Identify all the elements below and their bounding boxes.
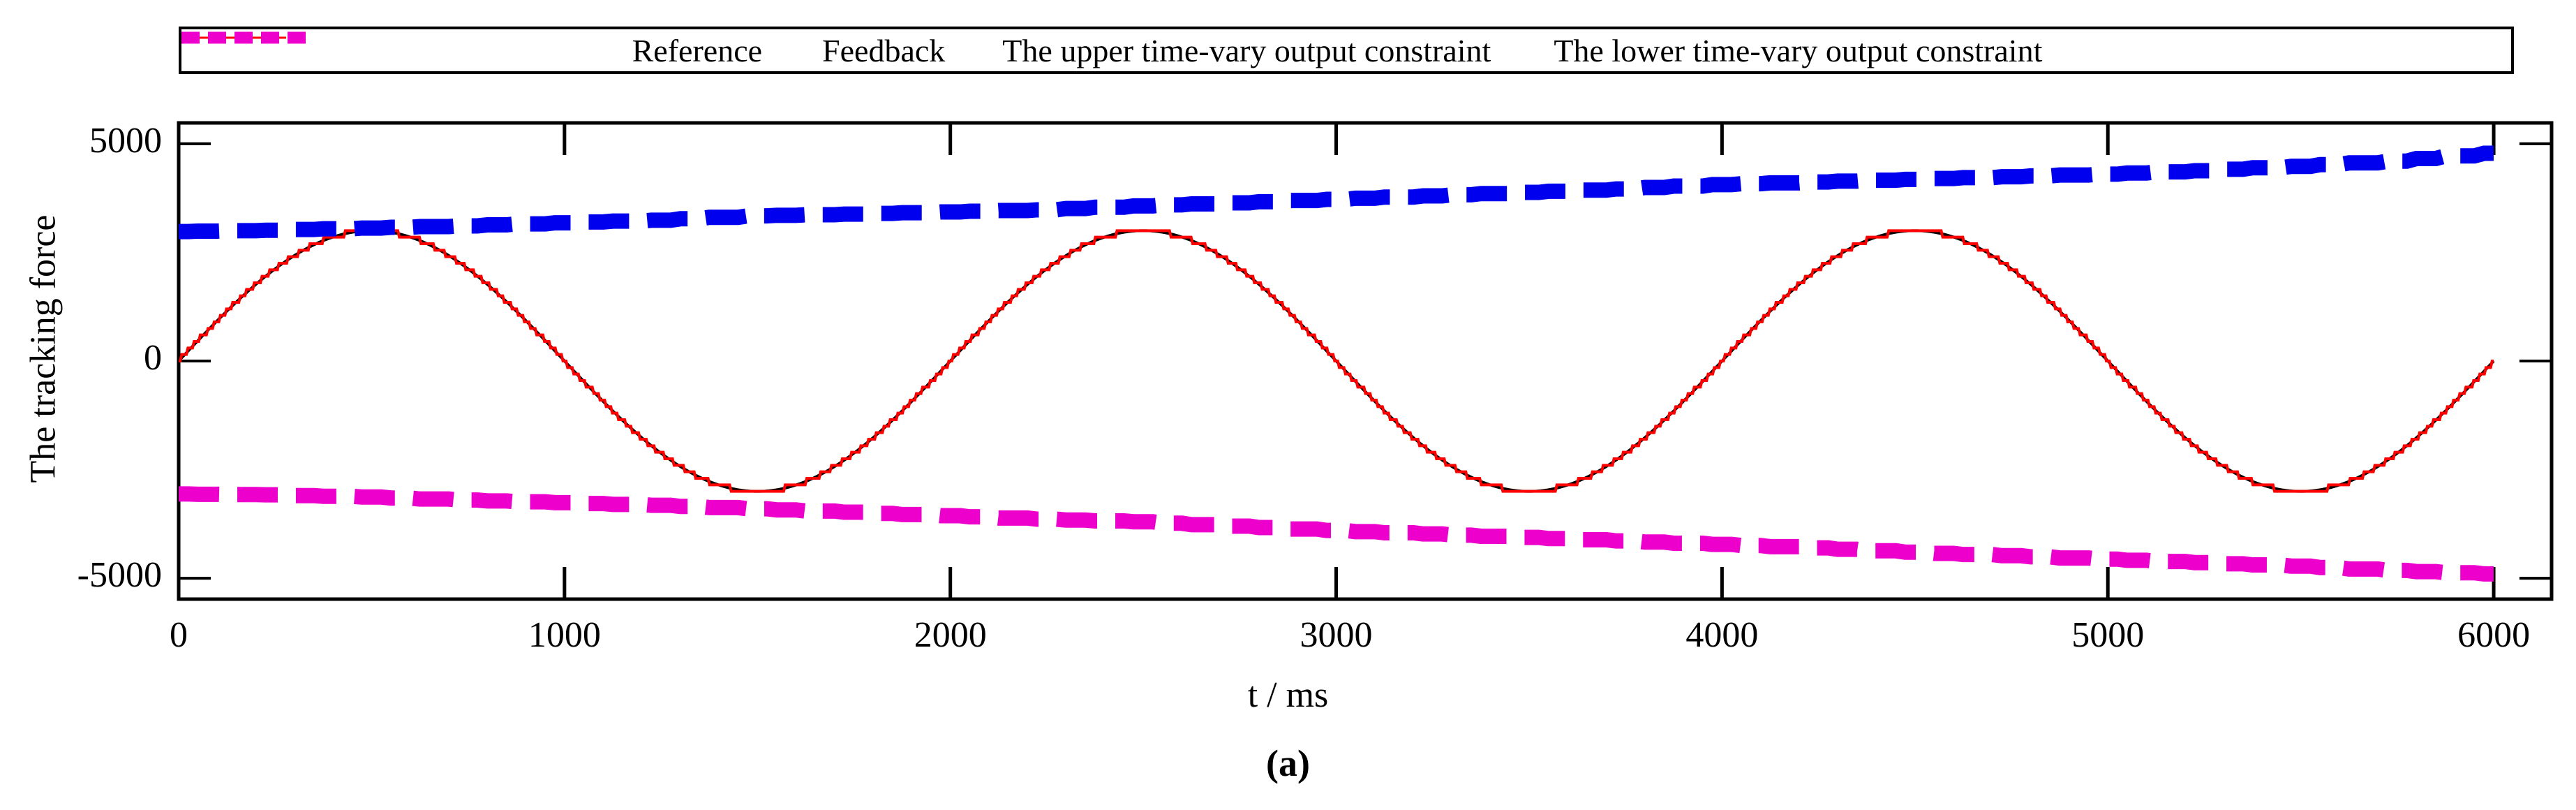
series-the-upper-time-vary-output-constraint (179, 154, 2494, 232)
y-axis-title: The tracking force (23, 126, 64, 573)
figure-caption: (a) (0, 742, 2576, 785)
x-axis-tick-label: 0 (74, 614, 283, 656)
x-axis-tick-label: 3000 (1232, 614, 1441, 656)
figure-root: Reference Feedback The upper time-vary o… (0, 0, 2576, 810)
series-the-lower-time-vary-output-constraint (179, 494, 2494, 574)
x-axis-tick-label: 5000 (2003, 614, 2212, 656)
x-axis-title: t / ms (0, 675, 2576, 716)
x-axis-tick-label: 1000 (460, 614, 669, 656)
series-feedback (179, 230, 2494, 491)
x-axis-tick-label: 2000 (846, 614, 1055, 656)
x-axis-tick-label: 4000 (1617, 614, 1826, 656)
x-axis-tick-label: 6000 (2389, 614, 2576, 656)
